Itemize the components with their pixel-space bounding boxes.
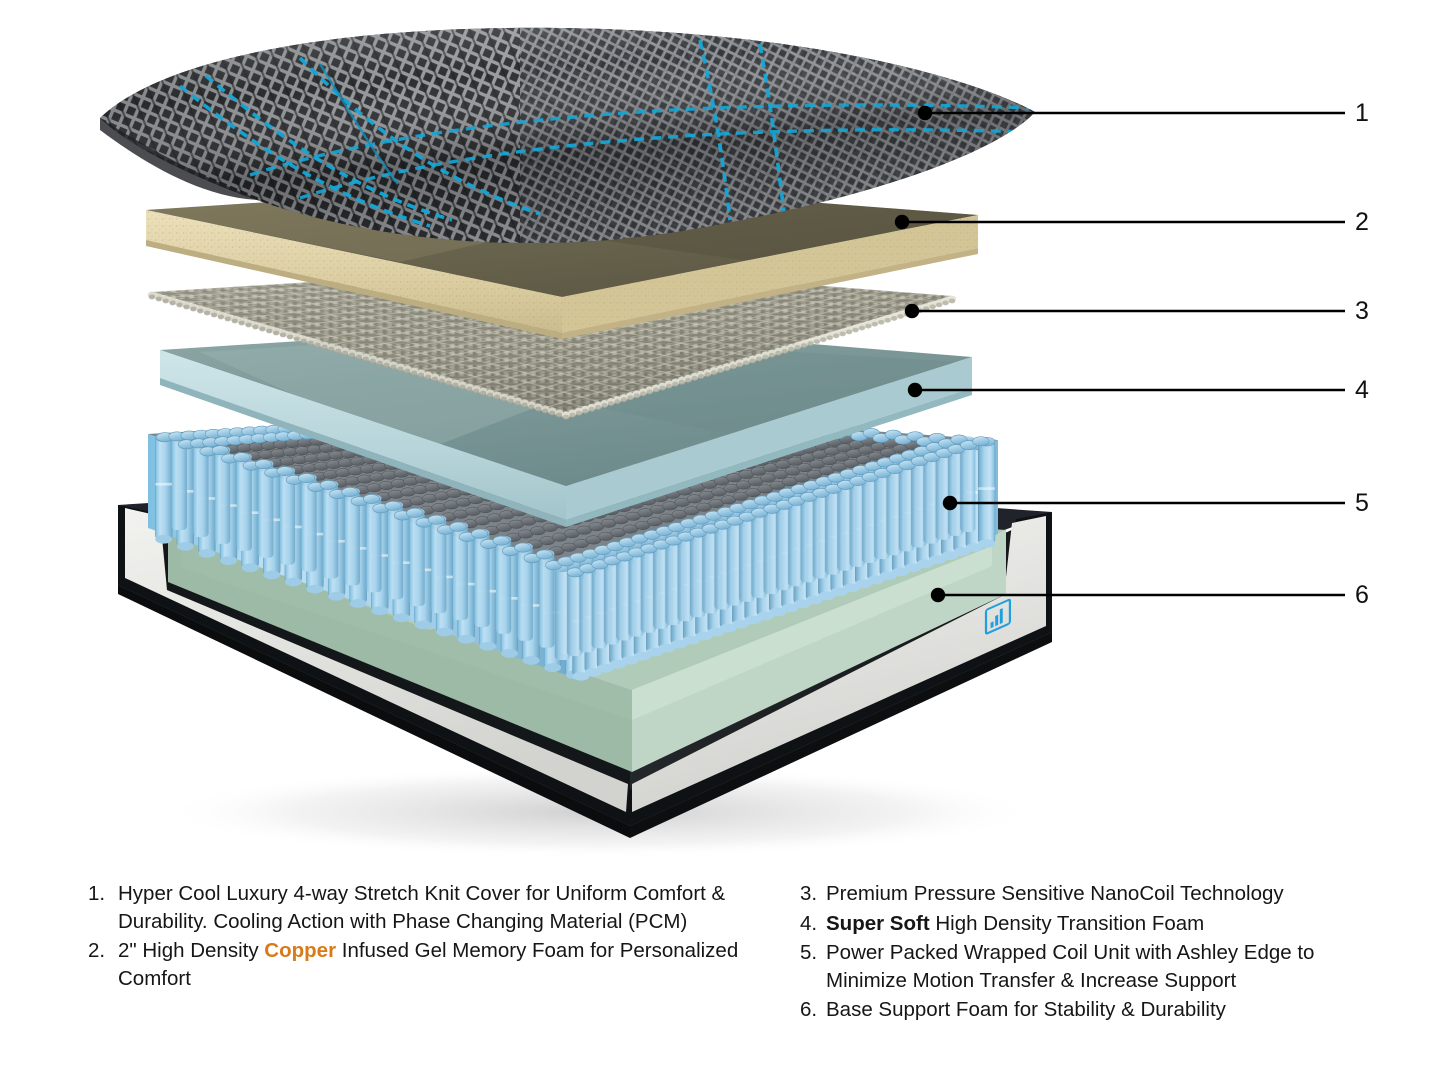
legend-item-text: Hyper Cool Luxury 4-way Stretch Knit Cov… <box>118 880 788 935</box>
legend-item-number: 3. <box>800 880 826 908</box>
callout-number-1: 1 <box>1355 101 1369 126</box>
callout-number-3: 3 <box>1355 299 1369 324</box>
callout-number-6: 6 <box>1355 583 1369 608</box>
callout-number-5: 5 <box>1355 491 1369 516</box>
mattress-exploded-diagram: 123456 <box>0 0 1445 860</box>
legend-item-6: 6.Base Support Foam for Stability & Dura… <box>800 996 1400 1024</box>
legend-item-text: Premium Pressure Sensitive NanoCoil Tech… <box>826 880 1400 908</box>
legend-item-number: 2. <box>88 937 118 965</box>
callout-number-2: 2 <box>1355 210 1369 235</box>
legend-column-left: 1.Hyper Cool Luxury 4-way Stretch Knit C… <box>88 880 788 994</box>
callout-dot-3 <box>905 304 919 318</box>
legend-item-text: Super Soft High Density Transition Foam <box>826 910 1400 938</box>
callout-number-4: 4 <box>1355 378 1369 403</box>
legend-item-text: Power Packed Wrapped Coil Unit with Ashl… <box>826 939 1400 994</box>
callout-dot-5 <box>943 496 957 510</box>
callout-dot-6 <box>931 588 945 602</box>
legend-item-text: Base Support Foam for Stability & Durabi… <box>826 996 1400 1024</box>
legend-item-5: 5.Power Packed Wrapped Coil Unit with As… <box>800 939 1400 994</box>
legend-item-4: 4.Super Soft High Density Transition Foa… <box>800 910 1400 938</box>
legend-item-number: 4. <box>800 910 826 938</box>
legend-item-1: 1.Hyper Cool Luxury 4-way Stretch Knit C… <box>88 880 788 935</box>
copper-highlight: Copper <box>264 939 336 962</box>
callout-dot-1 <box>918 106 932 120</box>
legend-item-2: 2.2" High Density Copper Infused Gel Mem… <box>88 937 788 992</box>
legend-item-number: 6. <box>800 996 826 1024</box>
callout-dot-2 <box>895 215 909 229</box>
legend-column-right: 3.Premium Pressure Sensitive NanoCoil Te… <box>800 880 1400 1026</box>
callout-dot-4 <box>908 383 922 397</box>
legend-item-number: 5. <box>800 939 826 967</box>
legend-item-number: 1. <box>88 880 118 908</box>
legend-item-text: 2" High Density Copper Infused Gel Memor… <box>118 937 788 992</box>
legend-item-3: 3.Premium Pressure Sensitive NanoCoil Te… <box>800 880 1400 908</box>
diagram-canvas <box>0 0 1445 860</box>
legend: 1.Hyper Cool Luxury 4-way Stretch Knit C… <box>0 880 1445 1080</box>
